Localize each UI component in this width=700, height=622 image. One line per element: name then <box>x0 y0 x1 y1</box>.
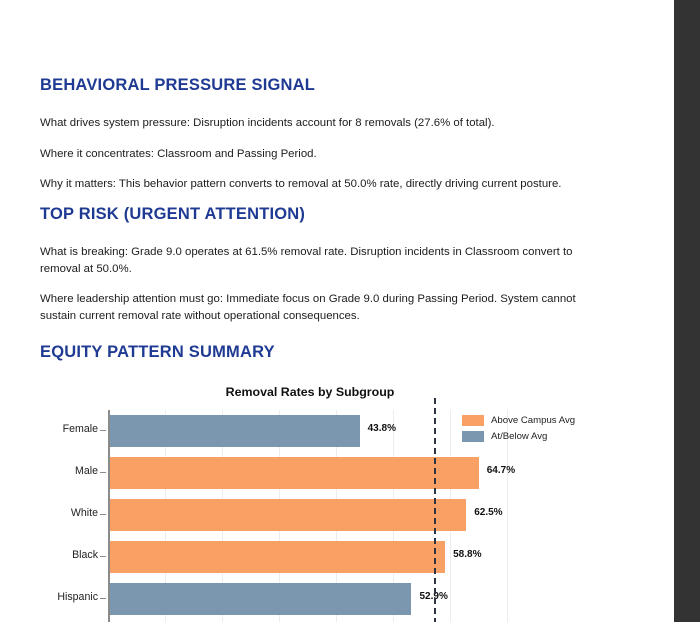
chart-bar <box>110 541 445 573</box>
top-risk-paragraph-2: Where leadership attention must go: Imme… <box>40 291 585 324</box>
chart-legend: Above Campus Avg At/Below Avg <box>462 412 575 444</box>
chart-bar <box>110 415 360 447</box>
section-equity-pattern-summary: EQUITY PATTERN SUMMARY <box>0 343 674 362</box>
chart-category-label: Female <box>0 423 98 435</box>
chart-category-label: White <box>0 507 98 519</box>
section-top-risk: TOP RISK (URGENT ATTENTION) What is brea… <box>0 205 674 324</box>
chart-bar-value-label: 62.5% <box>474 507 502 518</box>
section-heading-equity: EQUITY PATTERN SUMMARY <box>40 343 634 362</box>
legend-swatch-below-icon <box>462 431 484 442</box>
chart-bar-value-label: 43.8% <box>368 423 396 434</box>
legend-item-above-campus-avg: Above Campus Avg <box>462 412 575 428</box>
campus-average-reference-line <box>434 398 436 622</box>
chart-category-label: Male <box>0 465 98 477</box>
chart-category-label: Black <box>0 549 98 561</box>
chart-axis-tick <box>100 472 106 473</box>
behavioral-paragraph-3: Why it matters: This behavior pattern co… <box>40 176 585 193</box>
chart-bar-row: Male64.7% <box>0 452 674 494</box>
chart-bar <box>110 583 411 615</box>
chart-bar-row: Hispanic52.9% <box>0 578 674 620</box>
chart-bar-row: Black58.8% <box>0 536 674 578</box>
legend-label-above: Above Campus Avg <box>491 415 575 426</box>
behavioral-paragraph-1: What drives system pressure: Disruption … <box>40 115 585 132</box>
chart-category-label: Hispanic <box>0 591 98 603</box>
legend-label-below: At/Below Avg <box>491 431 547 442</box>
chart-axis-tick <box>100 556 106 557</box>
chart-title: Removal Rates by Subgroup <box>0 385 620 399</box>
section-behavioral-pressure-signal: BEHAVIORAL PRESSURE SIGNAL What drives s… <box>0 76 674 193</box>
chart-bar <box>110 499 466 531</box>
behavioral-paragraph-2: Where it concentrates: Classroom and Pas… <box>40 146 585 163</box>
section-heading-behavioral: BEHAVIORAL PRESSURE SIGNAL <box>40 76 634 95</box>
chart-axis-tick <box>100 430 106 431</box>
chart-bar-value-label: 58.8% <box>453 549 481 560</box>
chart-bar-value-label: 64.7% <box>487 465 515 476</box>
top-risk-paragraph-1: What is breaking: Grade 9.0 operates at … <box>40 244 585 277</box>
removal-rates-chart: Removal Rates by Subgroup Female43.8%Mal… <box>0 376 674 622</box>
legend-item-at-below-avg: At/Below Avg <box>462 428 575 444</box>
chart-axis-tick <box>100 598 106 599</box>
document-page: BEHAVIORAL PRESSURE SIGNAL What drives s… <box>0 0 674 622</box>
chart-bar <box>110 457 479 489</box>
legend-swatch-above-icon <box>462 415 484 426</box>
section-heading-top-risk: TOP RISK (URGENT ATTENTION) <box>40 205 634 224</box>
chart-axis-tick <box>100 514 106 515</box>
window-right-gutter <box>674 0 700 622</box>
chart-bar-row: White62.5% <box>0 494 674 536</box>
